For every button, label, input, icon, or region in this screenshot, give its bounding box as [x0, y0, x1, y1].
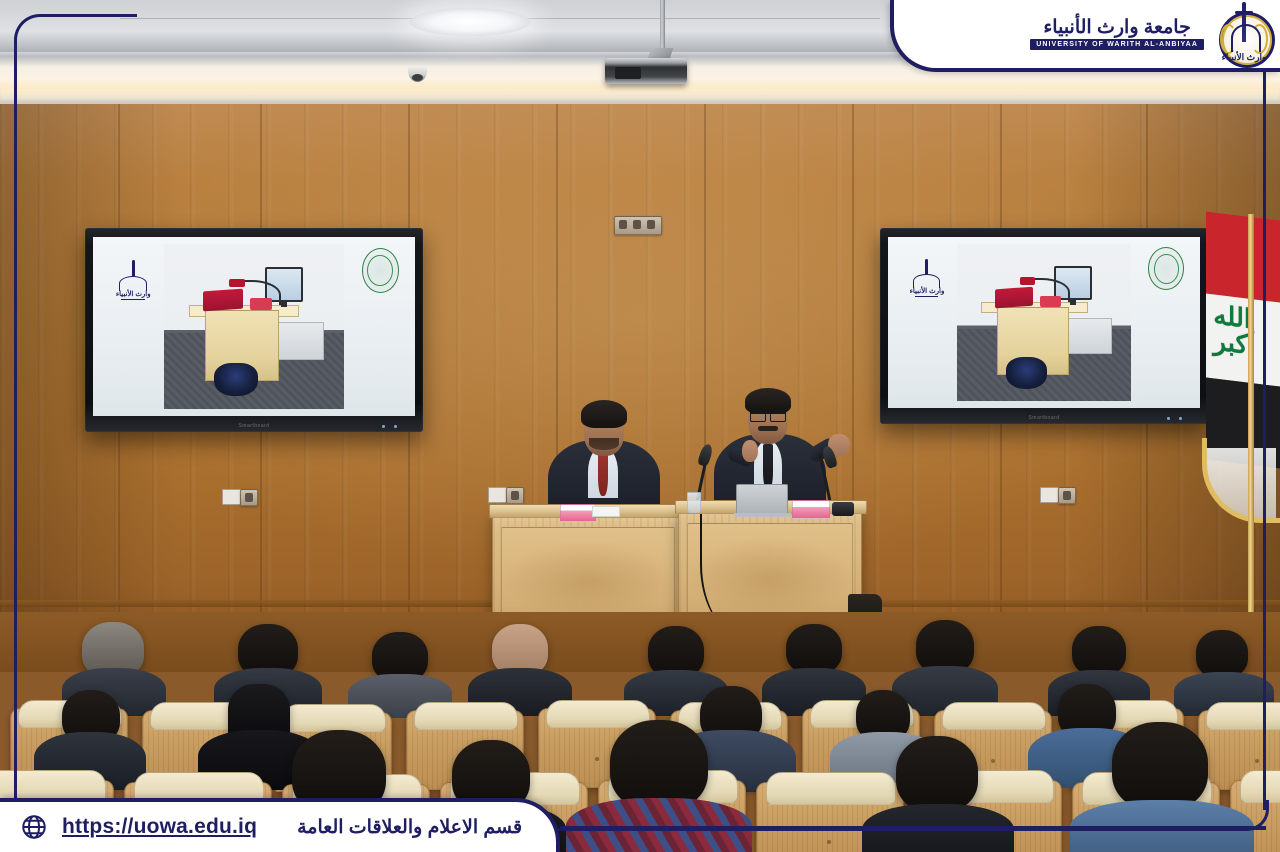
display-right-indicators: [1167, 417, 1182, 420]
audience-member: [1112, 722, 1208, 810]
display-right-brand: Smartboard: [1028, 415, 1059, 421]
tissue-box-right-icon: [792, 500, 830, 519]
audience-member: [896, 736, 978, 812]
wall-outlet-right-label: [1040, 487, 1060, 503]
flag-stripe-red: [1206, 211, 1280, 302]
university-wordmark: جامعة وارث الأنبياء UNIVERSITY OF WARITH…: [1030, 18, 1204, 50]
display-right-screen: وارث الأنبياء: [888, 237, 1200, 408]
university-crest-icon: وارث الأنبياء: [1216, 2, 1272, 66]
wall-outlet-mid: [506, 487, 524, 504]
crest-arabic-text: وارث الأنبياء: [1216, 53, 1272, 62]
wall-outlet-right: [1058, 487, 1076, 504]
audio-device: [832, 502, 854, 516]
slide-bag-icon: [1006, 357, 1048, 388]
slide-green-seal-icon: [1148, 247, 1184, 290]
paper-sheet: [592, 506, 620, 517]
footer-brand-panel: https://uowa.edu.iq قسم الاعلام والعلاقا…: [0, 798, 560, 852]
audience-member: [786, 624, 842, 674]
globe-icon: [20, 813, 48, 841]
frame-right-border: [1263, 40, 1266, 810]
display-left[interactable]: وارث الأنبياء Smartboard: [85, 228, 423, 432]
moderator-tie: [598, 450, 608, 496]
speaker-gesturing-hand: [742, 440, 758, 462]
slide-photo-content: [957, 244, 1132, 401]
ceiling-projector-icon: [605, 58, 687, 84]
laptop-silver-icon: [736, 484, 788, 514]
water-glass-icon: [687, 492, 701, 513]
website-url-link[interactable]: https://uowa.edu.iq: [62, 815, 257, 839]
wall-outlet-mid-label: [488, 487, 508, 503]
slide-university-logo-icon: وارث الأنبياء: [907, 247, 948, 312]
header-brand-panel: جامعة وارث الأنبياء UNIVERSITY OF WARITH…: [890, 0, 1280, 72]
recessed-ceiling-light-icon: [410, 8, 530, 36]
display-left-screen: وارث الأنبياء: [93, 237, 415, 416]
iraq-flag: الله أكبر: [1206, 211, 1280, 468]
slide-university-logo-icon: وارث الأنبياء: [112, 248, 154, 316]
screenshot-root: وارث الأنبياء Smartboard: [0, 0, 1280, 852]
department-name-arabic: قسم الاعلام والعلاقات العامة: [297, 816, 522, 839]
slide-photo-content: [164, 244, 344, 409]
display-left-indicators: [382, 425, 397, 428]
tissue-box-left-icon: [560, 504, 596, 522]
footer-rule: [560, 826, 1266, 830]
audience-member: [1072, 626, 1126, 676]
display-right[interactable]: وارث الأنبياء Smartboard: [880, 228, 1208, 424]
wordmark-arabic: جامعة وارث الأنبياء: [1043, 18, 1190, 37]
projector-pole: [660, 0, 665, 54]
wall-outlet-left: [240, 489, 258, 506]
wordmark-english: UNIVERSITY OF WARITH AL-ANBIYAA: [1030, 39, 1204, 50]
display-left-brand: Smartboard: [238, 423, 269, 429]
event-photograph: وارث الأنبياء Smartboard: [0, 0, 1280, 852]
audience-member: [610, 720, 708, 810]
slide-bag-icon: [214, 363, 257, 396]
flag-takbir-inscription: الله أكبر: [1213, 302, 1265, 373]
wall-outlet-left-label: [222, 489, 242, 505]
flag-pole: [1248, 214, 1254, 634]
slide-green-seal-icon: [362, 248, 399, 293]
wall-outlet-center: [614, 216, 662, 235]
audience-member: [1196, 630, 1248, 678]
